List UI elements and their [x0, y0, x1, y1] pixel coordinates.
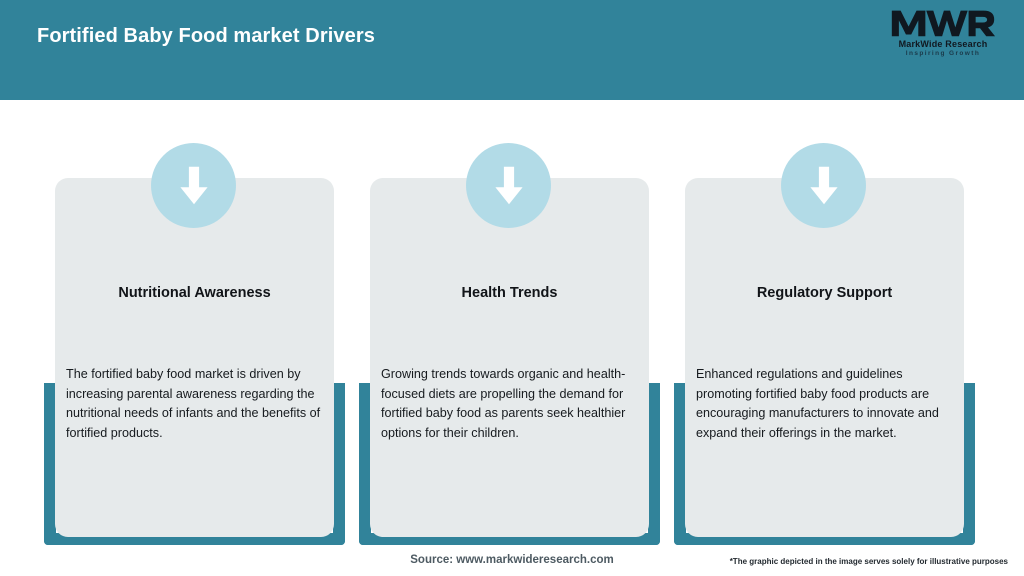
card-body: The fortified baby food market is driven…	[66, 365, 328, 443]
logo-tagline: Inspiring Growth	[906, 50, 980, 57]
driver-column: Regulatory Support Enhanced regulations …	[663, 140, 979, 550]
card-title: Health Trends	[370, 285, 649, 301]
arrow-down-icon	[151, 143, 236, 228]
card-body: Enhanced regulations and guidelines prom…	[696, 365, 958, 443]
card-body: Growing trends towards organic and healt…	[381, 365, 643, 443]
disclaimer-note: *The graphic depicted in the image serve…	[730, 557, 1008, 566]
driver-card[interactable]: Regulatory Support Enhanced regulations …	[685, 178, 964, 537]
logo-name: MarkWide Research	[899, 39, 988, 49]
mwr-logo-icon	[887, 8, 999, 38]
arrow-down-glyph	[492, 165, 526, 206]
driver-card[interactable]: Health Trends Growing trends towards org…	[370, 178, 649, 537]
card-title: Nutritional Awareness	[55, 285, 334, 301]
brand-logo: MarkWide Research Inspiring Growth	[884, 8, 1002, 64]
arrow-down-glyph	[807, 165, 841, 206]
arrow-down-icon	[466, 143, 551, 228]
driver-column: Health Trends Growing trends towards org…	[348, 140, 664, 550]
header-bar	[0, 0, 1024, 100]
arrow-down-icon	[781, 143, 866, 228]
page-title: Fortified Baby Food market Drivers	[37, 25, 375, 48]
arrow-down-glyph	[177, 165, 211, 206]
driver-column: Nutritional Awareness The fortified baby…	[33, 140, 349, 550]
card-title: Regulatory Support	[685, 285, 964, 301]
driver-card[interactable]: Nutritional Awareness The fortified baby…	[55, 178, 334, 537]
